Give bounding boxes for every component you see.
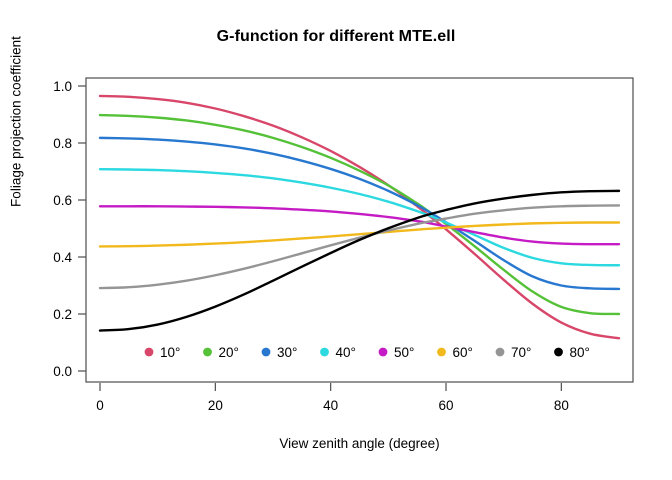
chart-figure: G-function for different MTE.ell Foliage… bbox=[0, 0, 672, 480]
y-tick-label: 1.0 bbox=[53, 79, 72, 94]
x-tick-label: 80 bbox=[554, 398, 569, 413]
legend-label-20deg[interactable]: 20° bbox=[219, 345, 239, 360]
chart-legend: 10°20°30°40°50°60°70°80° bbox=[145, 345, 590, 360]
y-tick-label: 0.0 bbox=[53, 364, 72, 379]
legend-dot-30deg[interactable] bbox=[262, 348, 271, 357]
x-tick-label: 20 bbox=[208, 398, 223, 413]
y-tick-label: 0.2 bbox=[53, 307, 72, 322]
plot-frame bbox=[86, 78, 633, 382]
x-tick-label: 40 bbox=[323, 398, 338, 413]
legend-dot-40deg[interactable] bbox=[320, 348, 329, 357]
legend-label-10deg[interactable]: 10° bbox=[160, 345, 180, 360]
series-line-40deg bbox=[100, 169, 619, 265]
x-tick-label: 0 bbox=[96, 398, 104, 413]
y-tick-label: 0.6 bbox=[53, 193, 72, 208]
legend-label-70deg[interactable]: 70° bbox=[511, 345, 531, 360]
legend-label-50deg[interactable]: 50° bbox=[394, 345, 414, 360]
y-axis-ticks: 0.00.20.40.60.81.0 bbox=[53, 79, 86, 379]
plot-border bbox=[86, 78, 633, 382]
series-line-70deg bbox=[100, 205, 619, 288]
plot-canvas: 0.00.20.40.60.81.0 020406080 10°20°30°40… bbox=[0, 0, 672, 480]
x-tick-label: 60 bbox=[438, 398, 453, 413]
legend-label-40deg[interactable]: 40° bbox=[336, 345, 356, 360]
y-tick-label: 0.8 bbox=[53, 136, 72, 151]
y-tick-label: 0.4 bbox=[53, 250, 72, 265]
legend-dot-10deg[interactable] bbox=[145, 348, 154, 357]
legend-dot-50deg[interactable] bbox=[379, 348, 388, 357]
legend-dot-80deg[interactable] bbox=[554, 348, 563, 357]
legend-label-30deg[interactable]: 30° bbox=[277, 345, 297, 360]
legend-label-80deg[interactable]: 80° bbox=[570, 345, 590, 360]
x-axis-ticks: 020406080 bbox=[96, 383, 569, 413]
legend-dot-20deg[interactable] bbox=[203, 348, 212, 357]
legend-dot-70deg[interactable] bbox=[496, 348, 505, 357]
legend-dot-60deg[interactable] bbox=[437, 348, 446, 357]
data-series-group bbox=[100, 96, 619, 338]
legend-label-60deg[interactable]: 60° bbox=[453, 345, 473, 360]
series-line-10deg bbox=[100, 96, 619, 338]
